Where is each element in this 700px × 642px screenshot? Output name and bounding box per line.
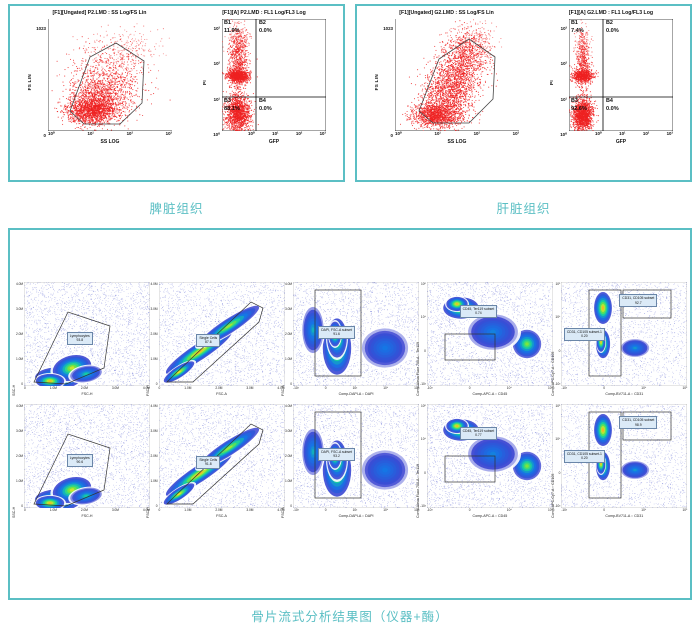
x-axis-label: Comp-DAPI-A :: DAPI [293,392,419,396]
x-tick: 2.0M [215,508,222,512]
y-tick: 3.0M [150,429,157,433]
x-tick-row: -10³010³10⁴10⁵ [293,508,419,512]
gate-percent: 0.20 [567,334,602,338]
x-axis-label: FSC-A [159,514,285,518]
quadrant-b1-pct: 7.4% [571,28,584,34]
density-plot-area: Single Cells91.8 [159,404,285,508]
x-axis-label: GFP [222,139,326,145]
x-tick: 0 [24,508,26,512]
y-tick: 10⁰ [554,132,567,138]
gate-percent: 90.6 [70,460,90,464]
y-tick: 3.0M [16,307,23,311]
x-tick: 0 [159,508,161,512]
y-axis-label: SSC-H [12,282,16,396]
gate-name: CD45, Ter119 subset [463,429,495,433]
x-tick-row: -10³010⁴10⁵ [427,508,553,512]
x-tick: 2.0M [81,386,88,390]
flow-panel-2-1: SSC-H4.0M3.0M2.0M1.0M0Lymphocytes90.601.… [16,404,146,518]
spleen-plot-box: [F1][Ungated] P2.LMD : SS Log/FS Lin FS … [8,4,345,182]
scatter-plot-area [48,19,172,131]
x-axis-label: SS LOG [395,139,519,145]
caption-spleen: 脾脏组织 [8,198,345,217]
plot-title: [F1][A] G2.LMD : FL1 Log/FL3 Log [569,10,653,16]
quadrant-b1-label: B1 [224,20,231,27]
y-tick: -10³ [555,382,561,386]
y-tick: 10³ [207,26,220,31]
quadrant-b2-pct: 0.0% [259,28,272,34]
plot-title: [F1][Ungated] G2.LMD : SS Log/FS Lin [399,10,494,16]
x-tick: 0 [24,386,26,390]
x-tick: 0 [603,386,605,390]
y-tick: 3.0M [16,429,23,433]
y-tick: 4.0M [150,282,157,286]
x-tick: 1.0M [50,508,57,512]
x-tick: 10² [474,131,480,137]
quadrant-b3-label: B3 [224,98,231,105]
density-plot-area: Lymphocytes90.6 [24,404,150,508]
y-tick: 4.0M [16,282,23,286]
flow-panel-1-5: Comp-APC-Cy7-A :: CD10510⁵10⁴0-10³CD31, … [554,282,684,396]
quadrant-b2-label: B2 [259,20,266,27]
y-tick: 10² [554,61,567,66]
x-tick: 10³ [353,508,358,512]
x-tick: 2.0M [215,386,222,390]
x-axis-label: Comp-DAPI-A :: DAPI [293,514,419,518]
gate-label[interactable]: Single Cells91.8 [196,456,220,469]
quadrant-b1-pct: 11.9% [224,28,240,34]
y-axis-label: SSC-H [12,404,16,518]
scatter-plot-area [395,19,519,131]
y-tick: 10³ [554,26,567,31]
y-tick: 10⁴ [555,437,561,441]
y-tick: 0 [150,382,157,386]
x-tick: 10² [643,131,649,137]
gate-name: Lymphocytes [70,334,90,338]
bone-chip-row: SSC-H4.0M3.0M2.0M1.0M0Lymphocytes90.601.… [16,404,684,518]
gate-percent: 98.9 [622,423,654,427]
y-tick: 0 [379,133,393,138]
y-tick: 10⁴ [420,437,426,441]
y-tick: 2.0M [16,332,23,336]
density-plot-area: DAPI, FSC-A subset93.2 [293,404,419,508]
y-tick: 10¹ [554,97,567,102]
density-plot-area: CD45, Ter119 subset0.77 [427,404,553,508]
y-tick: 0 [285,504,292,508]
x-tick: 0 [325,386,327,390]
x-tick: 10² [296,131,302,137]
x-tick-row: -10³010⁴10⁵ [561,508,687,512]
x-tick: 10³ [513,131,519,137]
y-axis-label: Comp-Alexa Fluor 700-A :: Ter119 [416,404,420,518]
y-tick: 1023 [32,26,46,31]
x-axis-label: FSC-A [159,392,285,396]
gate-name: CD31, CD105 subset [622,418,654,422]
flow-panel-1-1: SSC-H4.0M3.0M2.0M1.0M0Lymphocytes93.801.… [16,282,146,396]
flow-panel-2-4: Comp-Alexa Fluor 700-A :: Ter11910⁵10⁴0-… [420,404,550,518]
y-tick-column: 10⁵10⁴0-10³ [555,404,562,508]
y-axis-label: FSC-A [281,404,285,518]
gate-name: DAPI, FSC-A subset [321,450,352,454]
x-tick-row: -10³010⁴10⁵ [561,386,687,390]
gate-name: Lymphocytes [70,456,90,460]
gate-label[interactable]: Single Cells87.6 [196,334,220,347]
x-tick: -10³ [427,386,433,390]
y-tick: -10³ [420,382,426,386]
quadrant-b3-pct: 88.1% [224,106,240,112]
gate-name: CD31, CD105 subset-1 [567,330,602,334]
x-tick-row: -10³010³10⁴10⁵ [293,386,419,390]
y-axis-label: FS LIN [374,74,379,90]
y-tick: 1.0M [285,357,292,361]
gate-name: CD31, CD105 subset [622,296,654,300]
x-tick-row: 01.0M2.0M3.0M4.0M [24,508,150,512]
y-tick: 0 [16,382,23,386]
x-tick: -10³ [561,386,567,390]
x-tick: 3.0M [246,508,253,512]
x-tick: 1.0M [50,386,57,390]
tissue-block-spleen: [F1][Ungated] P2.LMD : SS Log/FS Lin FS … [8,4,345,217]
x-tick: 10⁴ [383,508,388,512]
x-tick: -10³ [293,508,299,512]
x-axis-label: FSC-H [24,514,150,518]
quadrant-b2-pct: 0.0% [606,28,619,34]
y-tick: 0 [32,133,46,138]
x-tick: 0 [325,508,327,512]
y-axis-label: FSC-H [146,404,150,518]
gate-percent: 93.2 [321,454,352,458]
density-plot-area: Single Cells87.6 [159,282,285,386]
y-tick: 1.0M [16,357,23,361]
x-tick: 3.0M [112,386,119,390]
gate-label[interactable]: Lymphocytes93.8 [67,332,93,345]
y-tick: 1023 [379,26,393,31]
bone-chip-analysis-box: SSC-H4.0M3.0M2.0M1.0M0Lymphocytes93.801.… [8,228,692,600]
quadrant-plot-area: B1 11.9% B2 0.0% B3 88.1% B4 0.0% [222,19,326,131]
gate-percent: 91.6 [321,332,352,336]
flow-panel-1-4: Comp-Alexa Fluor 700-A :: Ter11910⁵10⁴0-… [420,282,550,396]
x-axis-label: Comp-BV711-A :: CD31 [561,514,687,518]
y-tick: 1.0M [285,479,292,483]
y-tick: 3.0M [285,307,292,311]
y-axis-label: Comp-Alexa Fluor 700-A :: Ter119 [416,282,420,396]
bone-chip-panel-grid: SSC-H4.0M3.0M2.0M1.0M0Lymphocytes93.801.… [10,230,690,518]
y-axis-label: PI [202,80,207,85]
y-tick: 1.0M [150,357,157,361]
y-tick: 0 [420,349,426,353]
y-tick: 1.0M [150,479,157,483]
x-tick: 10⁴ [641,386,646,390]
quadrant-b4-pct: 0.0% [259,106,272,112]
y-axis-label: FSC-A [281,282,285,396]
gate-label[interactable]: CD31, CD105 subset98.9 [619,416,657,429]
y-tick: -10³ [555,504,561,508]
y-tick: 10⁵ [420,282,426,286]
plot-title: [F1][A] P2.LMD : FL1 Log/FL3 Log [222,10,306,16]
y-tick: 2.0M [150,332,157,336]
gate-label[interactable]: CD45, Ter119 subset0.77 [460,427,498,440]
density-plot-area: CD31, CD105 subset-10.20CD31, CD105 subs… [561,404,687,508]
x-tick: 10⁰ [595,131,602,137]
caption-liver: 肝脏组织 [355,198,692,217]
gate-label[interactable]: Lymphocytes90.6 [67,454,93,467]
x-tick: 2.0M [81,508,88,512]
y-tick: 2.0M [16,454,23,458]
x-axis-label: Comp-BV711-A :: CD31 [561,392,687,396]
flow-panel-2-2: FSC-H4.0M3.0M2.0M1.0M0Single Cells91.801… [151,404,281,518]
tissue-block-liver: [F1][Ungated] G2.LMD : SS Log/FS Lin FS … [355,4,692,217]
x-tick: 0 [603,508,605,512]
gate-percent: 92.7 [622,301,654,305]
density-plot-area: CD45, Ter119 subset0.74 [427,282,553,386]
y-tick-column: 4.0M3.0M2.0M1.0M0 [285,282,293,386]
density-plot-area: CD31, CD105 subset-10.20CD31, CD105 subs… [561,282,687,386]
quadrant-b4-label: B4 [606,98,613,105]
liver-fl1-fl3-panel: [F1][A] G2.LMD : FL1 Log/FL3 Log PI 10³ … [549,10,673,145]
x-axis-label: Comp-APC-A :: CD45 [427,514,553,518]
y-tick: 10¹ [207,97,220,102]
x-tick-row: 01.0M2.0M3.0M4.0M [159,508,285,512]
x-tick: -10³ [561,508,567,512]
y-tick: 2.0M [285,332,292,336]
bone-chip-row: SSC-H4.0M3.0M2.0M1.0M0Lymphocytes93.801.… [16,282,684,396]
y-tick: 4.0M [150,404,157,408]
y-tick: 2.0M [285,454,292,458]
y-tick: 0 [555,349,561,353]
x-tick: 3.0M [246,386,253,390]
x-tick: 10⁴ [507,508,512,512]
liver-plot-box: [F1][Ungated] G2.LMD : SS Log/FS Lin FS … [355,4,692,182]
x-axis-label: Comp-APC-A :: CD45 [427,392,553,396]
x-tick: 10³ [667,131,673,137]
liver-sslog-fslin-panel: [F1][Ungated] G2.LMD : SS Log/FS Lin FS … [374,10,519,145]
quadrant-b3-pct: 92.6% [571,106,587,112]
gate-percent: 0.74 [463,311,495,315]
y-tick: 3.0M [150,307,157,311]
x-tick: 1.0M [184,386,191,390]
y-tick-column: 4.0M3.0M2.0M1.0M0 [150,282,158,386]
x-tick: 0 [469,508,471,512]
x-tick: 10⁰ [395,131,402,137]
y-tick: 10⁴ [555,315,561,319]
flow-panel-1-2: FSC-H4.0M3.0M2.0M1.0M0Single Cells87.601… [151,282,281,396]
x-tick: 10¹ [619,131,625,137]
caption-bone-chip: 骨片流式分析结果图（仪器+酶） [0,606,700,625]
x-tick: -10³ [427,508,433,512]
x-tick: 0 [469,386,471,390]
x-tick: 10⁰ [48,131,55,137]
y-tick: 0 [555,471,561,475]
flow-panel-1-3: FSC-A4.0M3.0M2.0M1.0M0DAPI, FSC-A subset… [285,282,415,396]
gate-name: CD31, CD105 subset-1 [567,452,602,456]
gate-percent: 91.8 [199,462,217,466]
y-axis-label: FS LIN [27,74,32,90]
gate-percent: 87.6 [199,340,217,344]
x-tick: 10¹ [272,131,278,137]
x-tick: 3.0M [112,508,119,512]
gate-label[interactable]: DAPI, FSC-A subset93.2 [318,448,355,461]
x-tick: 10² [127,131,133,137]
gate-name: CD45, Ter119 subset [463,307,495,311]
y-tick-column: 10⁵10⁴0-10³ [420,404,427,508]
y-tick: 0 [420,471,426,475]
y-tick: 10⁴ [420,315,426,319]
gate-name: DAPI, FSC-A subset [321,328,352,332]
spleen-sslog-fslin-panel: [F1][Ungated] P2.LMD : SS Log/FS Lin FS … [27,10,172,145]
y-tick: 1.0M [16,479,23,483]
x-tick: 10⁵ [682,386,687,390]
gate-label[interactable]: CD45, Ter119 subset0.74 [460,305,498,318]
y-tick: 0 [285,382,292,386]
quadrant-b2-label: B2 [606,20,613,27]
x-tick: 10³ [353,386,358,390]
y-tick: 4.0M [285,282,292,286]
y-tick-column: 10⁵10⁴0-10³ [420,282,427,386]
spleen-fl1-fl3-panel: [F1][A] P2.LMD : FL1 Log/FL3 Log PI 10³ … [202,10,326,145]
y-axis-label: FSC-H [146,282,150,396]
x-tick: 0 [159,386,161,390]
y-tick-column: 4.0M3.0M2.0M1.0M0 [150,404,158,508]
gate-name: Single Cells [199,458,217,462]
gate-percent: 0.77 [463,433,495,437]
x-tick: 10⁴ [383,386,388,390]
y-tick: 4.0M [16,404,23,408]
y-tick: 10⁰ [207,132,220,138]
y-axis-label: PI [549,80,554,85]
quadrant-b3-label: B3 [571,98,578,105]
x-tick-row: 01.0M2.0M3.0M4.0M [24,386,150,390]
top-tissue-row: [F1][Ungated] P2.LMD : SS Log/FS Lin FS … [0,0,700,217]
gate-percent: 0.20 [567,456,602,460]
x-tick: 10⁴ [507,386,512,390]
x-axis-label: FSC-H [24,392,150,396]
flow-panel-2-5: Comp-APC-Cy7-A :: CD10510⁵10⁴0-10³CD31, … [554,404,684,518]
y-tick-column: 4.0M3.0M2.0M1.0M0 [16,404,24,508]
y-tick: 10² [207,61,220,66]
x-axis-label: GFP [569,139,673,145]
x-tick: 10³ [320,131,326,137]
y-tick: 10⁵ [555,404,561,408]
y-tick: 10⁵ [555,282,561,286]
y-tick-column: 10⁵10⁴0-10³ [555,282,562,386]
y-axis-label: Comp-APC-Cy7-A :: CD105 [551,282,555,396]
quadrant-plot-area: B1 7.4% B2 0.0% B3 92.6% B4 0.0% [569,19,673,131]
x-tick-row: -10³010⁴10⁵ [427,386,553,390]
y-tick: 0 [16,504,23,508]
x-tick: 10⁵ [682,508,687,512]
y-tick: 4.0M [285,404,292,408]
y-axis-label: Comp-APC-Cy7-A :: CD105 [551,404,555,518]
gate-label[interactable]: CD31, CD105 subset-10.20 [564,328,605,341]
y-tick: 2.0M [150,454,157,458]
x-tick: 10⁰ [248,131,255,137]
x-tick: 10⁴ [641,508,646,512]
y-tick: -10³ [420,504,426,508]
gate-percent: 93.8 [70,338,90,342]
quadrant-b1-label: B1 [571,20,578,27]
x-tick: 10³ [166,131,172,137]
x-tick: -10³ [293,386,299,390]
x-tick-row: 01.0M2.0M3.0M4.0M [159,386,285,390]
flow-panel-2-3: FSC-A4.0M3.0M2.0M1.0M0DAPI, FSC-A subset… [285,404,415,518]
y-tick: 10⁵ [420,404,426,408]
y-tick: 0 [150,504,157,508]
density-plot-area: DAPI, FSC-A subset91.6 [293,282,419,386]
quadrant-b4-pct: 0.0% [606,106,619,112]
gate-label[interactable]: CD31, CD105 subset-10.20 [564,450,605,463]
x-tick: 10¹ [435,131,441,137]
density-plot-area: Lymphocytes93.8 [24,282,150,386]
x-tick: 10¹ [88,131,94,137]
gate-label[interactable]: CD31, CD105 subset92.7 [619,294,657,307]
x-tick: 1.0M [184,508,191,512]
gate-name: Single Cells [199,336,217,340]
y-tick-column: 4.0M3.0M2.0M1.0M0 [285,404,293,508]
quadrant-b4-label: B4 [259,98,266,105]
gate-label[interactable]: DAPI, FSC-A subset91.6 [318,326,355,339]
plot-title: [F1][Ungated] P2.LMD : SS Log/FS Lin [53,10,147,16]
y-tick-column: 4.0M3.0M2.0M1.0M0 [16,282,24,386]
x-axis-label: SS LOG [48,139,172,145]
y-tick: 3.0M [285,429,292,433]
